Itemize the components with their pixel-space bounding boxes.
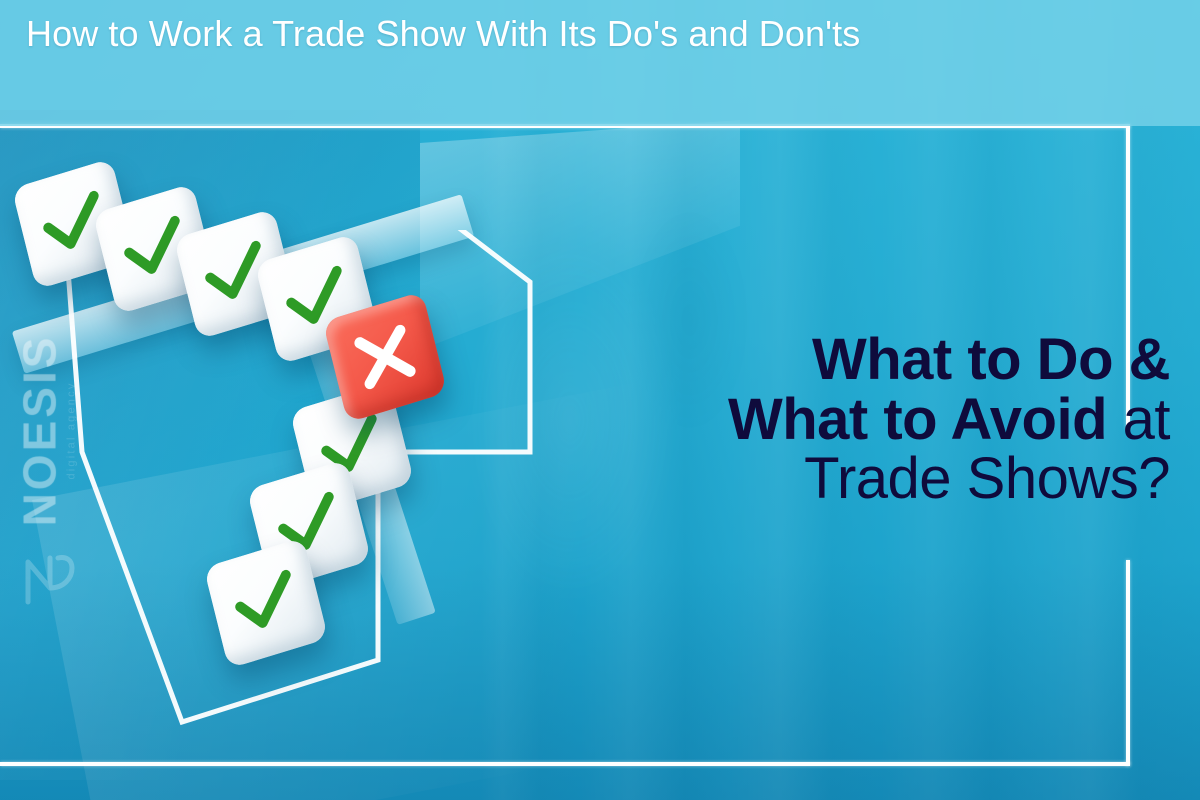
headline-line-1: What to Do & — [550, 330, 1170, 390]
frame-line-right-lower — [1126, 560, 1130, 766]
frame-line-bottom — [0, 762, 1130, 766]
headline-line-3: Trade Shows? — [550, 449, 1170, 509]
check-mark-icon — [230, 569, 302, 638]
cube-assembly — [0, 110, 620, 710]
infographic-banner: NOESIS digital agency — [0, 0, 1200, 800]
headline-line-2-light: at — [1107, 387, 1170, 452]
headline-line-2: What to Avoid at — [550, 390, 1170, 450]
headline-block: What to Do & What to Avoid at Trade Show… — [550, 330, 1170, 509]
headline-line-2-bold: What to Avoid — [728, 387, 1107, 452]
title-band: How to Work a Trade Show With Its Do's a… — [0, 0, 1200, 126]
page-title: How to Work a Trade Show With Its Do's a… — [26, 8, 1086, 59]
cross-mark-icon — [350, 320, 420, 393]
